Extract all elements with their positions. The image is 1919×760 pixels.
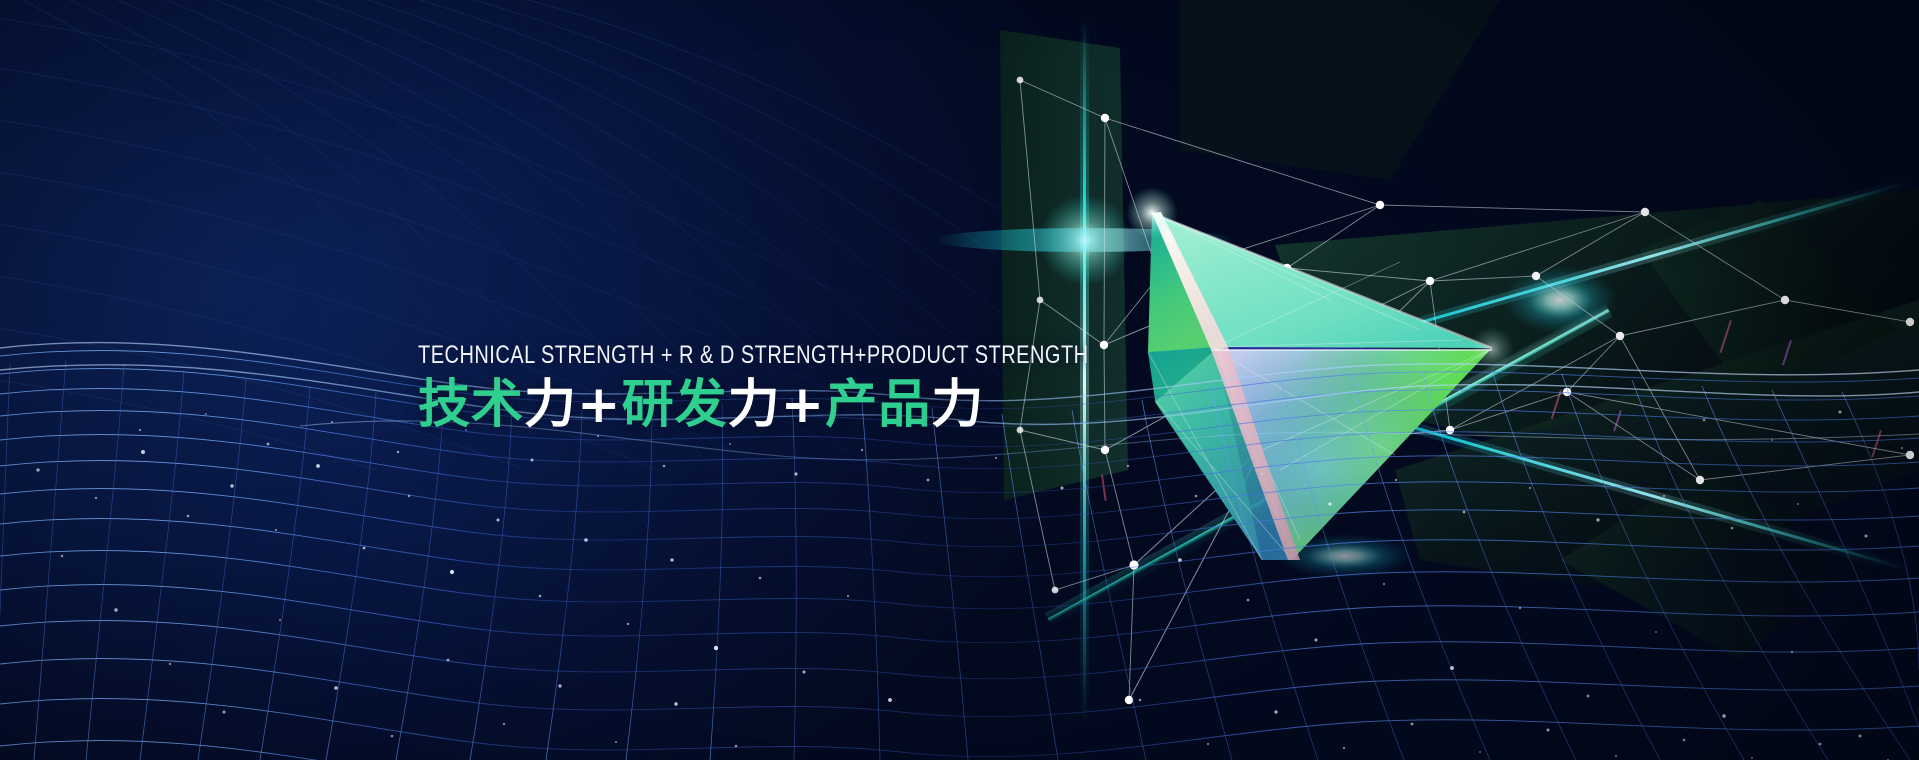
headline-segment-4: 力+ <box>728 375 826 435</box>
headline-segment-6: 力 <box>931 375 984 435</box>
headline-block: TECHNICAL STRENGTH + R & D STRENGTH+PROD… <box>418 340 1038 434</box>
hero-banner: TECHNICAL STRENGTH + R & D STRENGTH+PROD… <box>0 0 1919 760</box>
headline-segment-3: 研发 <box>622 375 728 435</box>
headline-english: TECHNICAL STRENGTH + R & D STRENGTH+PROD… <box>418 340 914 370</box>
headline-segment-2: 力+ <box>524 375 622 435</box>
headline-segment-5: 产品 <box>825 375 931 435</box>
headline-segment-1: 技术 <box>418 375 524 435</box>
headline-chinese: 技术力+研发力+产品力 <box>418 376 1038 434</box>
